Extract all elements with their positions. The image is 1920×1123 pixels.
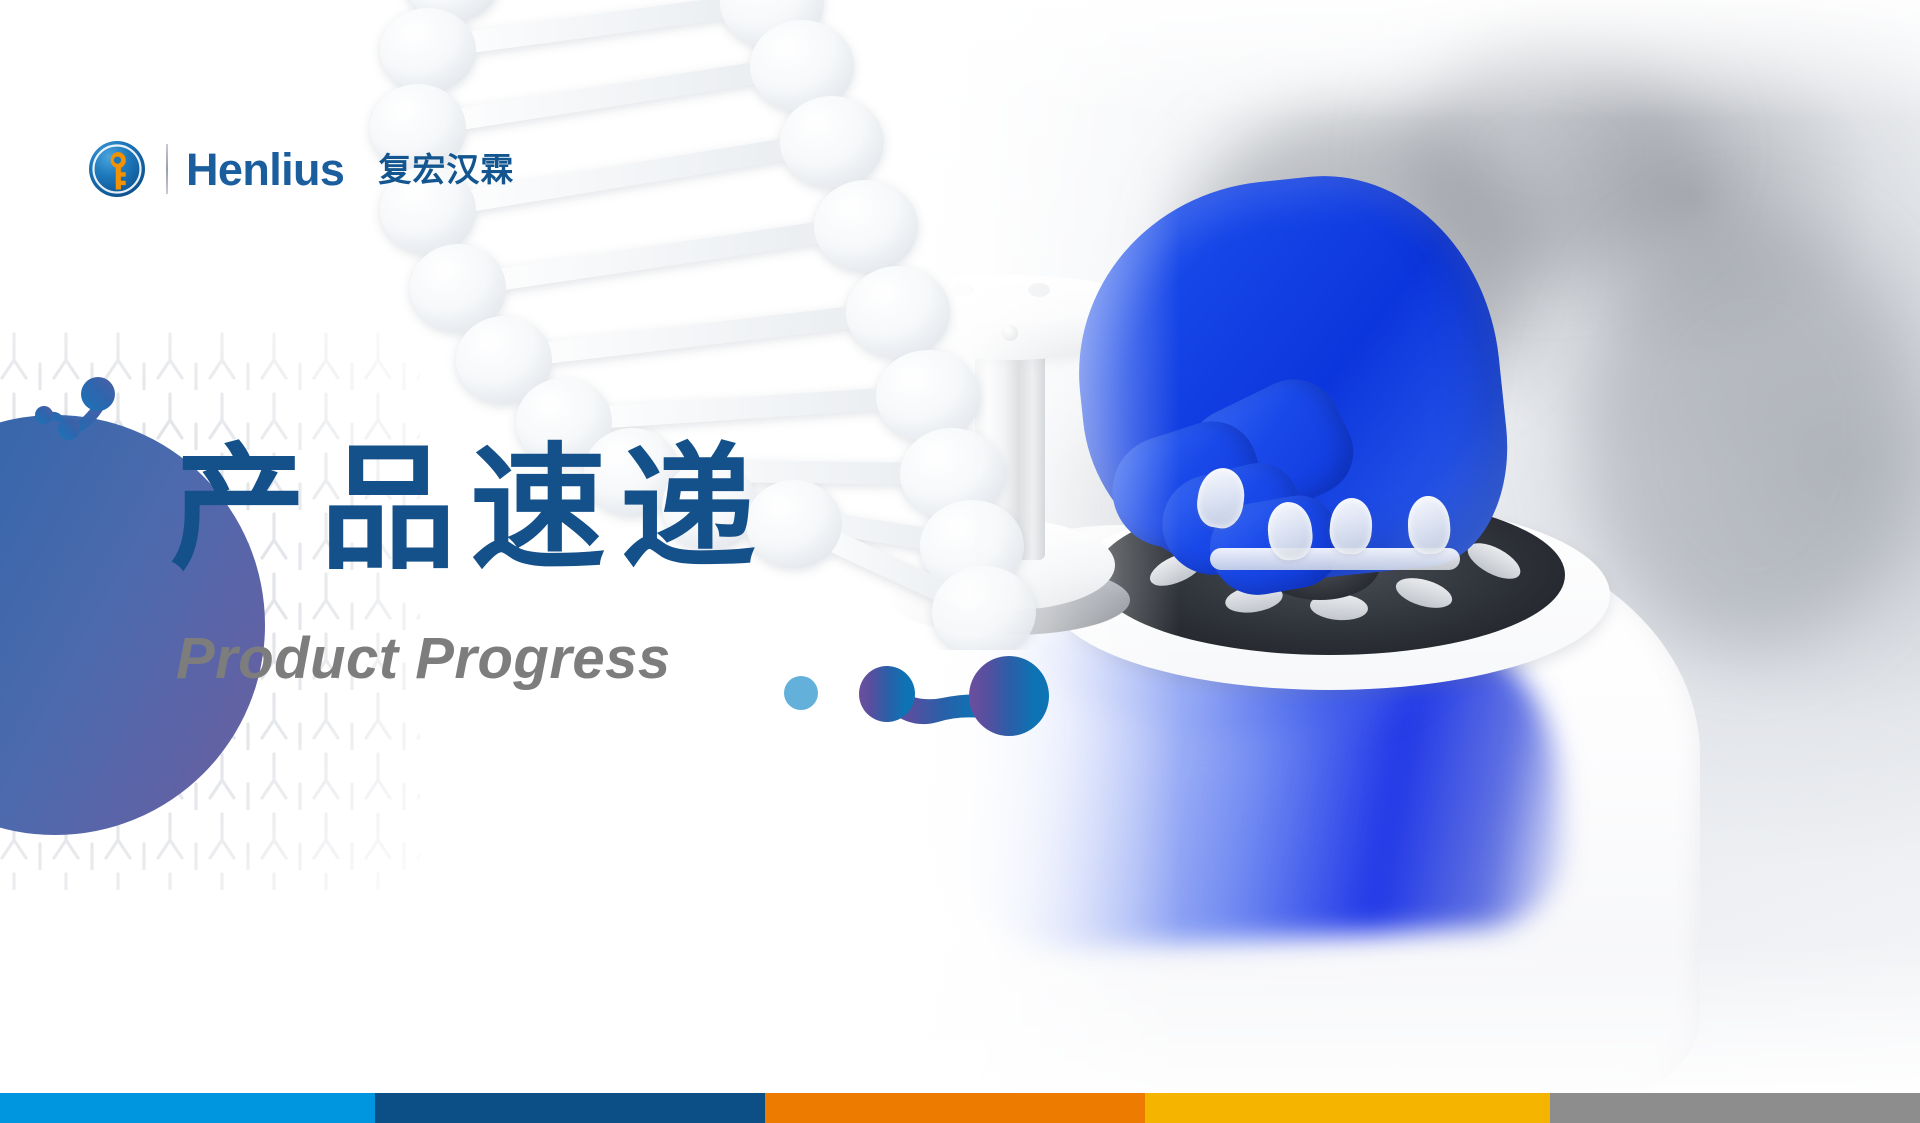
molecule-icon	[22, 372, 132, 450]
bar-segment-dark-blue	[375, 1093, 765, 1123]
henlius-circle-logo-icon	[88, 140, 146, 198]
photo-bokeh-blob	[1580, 220, 1920, 650]
bar-segment-yellow	[1145, 1093, 1550, 1123]
bottom-color-bar	[0, 1093, 1920, 1123]
photo-left-fade	[880, 0, 1180, 1093]
bar-segment-orange	[765, 1093, 1145, 1123]
bar-segment-light-blue	[0, 1093, 375, 1123]
brand-logo[interactable]: Henlius 复宏汉霖	[88, 140, 514, 198]
slide-root: Henlius 复宏汉霖 产品速递 Product Progress	[0, 0, 1920, 1123]
photo-bottom-fade	[880, 943, 1920, 1093]
page-subtitle-english: Product Progress	[176, 630, 671, 688]
logo-divider	[166, 144, 168, 194]
molecule-icon	[854, 656, 1064, 736]
brand-chinese-name: 复宏汉霖	[378, 153, 514, 186]
brand-wordmark: Henlius	[186, 147, 344, 192]
bar-segment-grey	[1550, 1093, 1920, 1123]
lab-centrifuge-photo	[880, 0, 1920, 1093]
accent-dot	[784, 676, 818, 710]
page-title-chinese: 产品速递	[170, 442, 770, 578]
